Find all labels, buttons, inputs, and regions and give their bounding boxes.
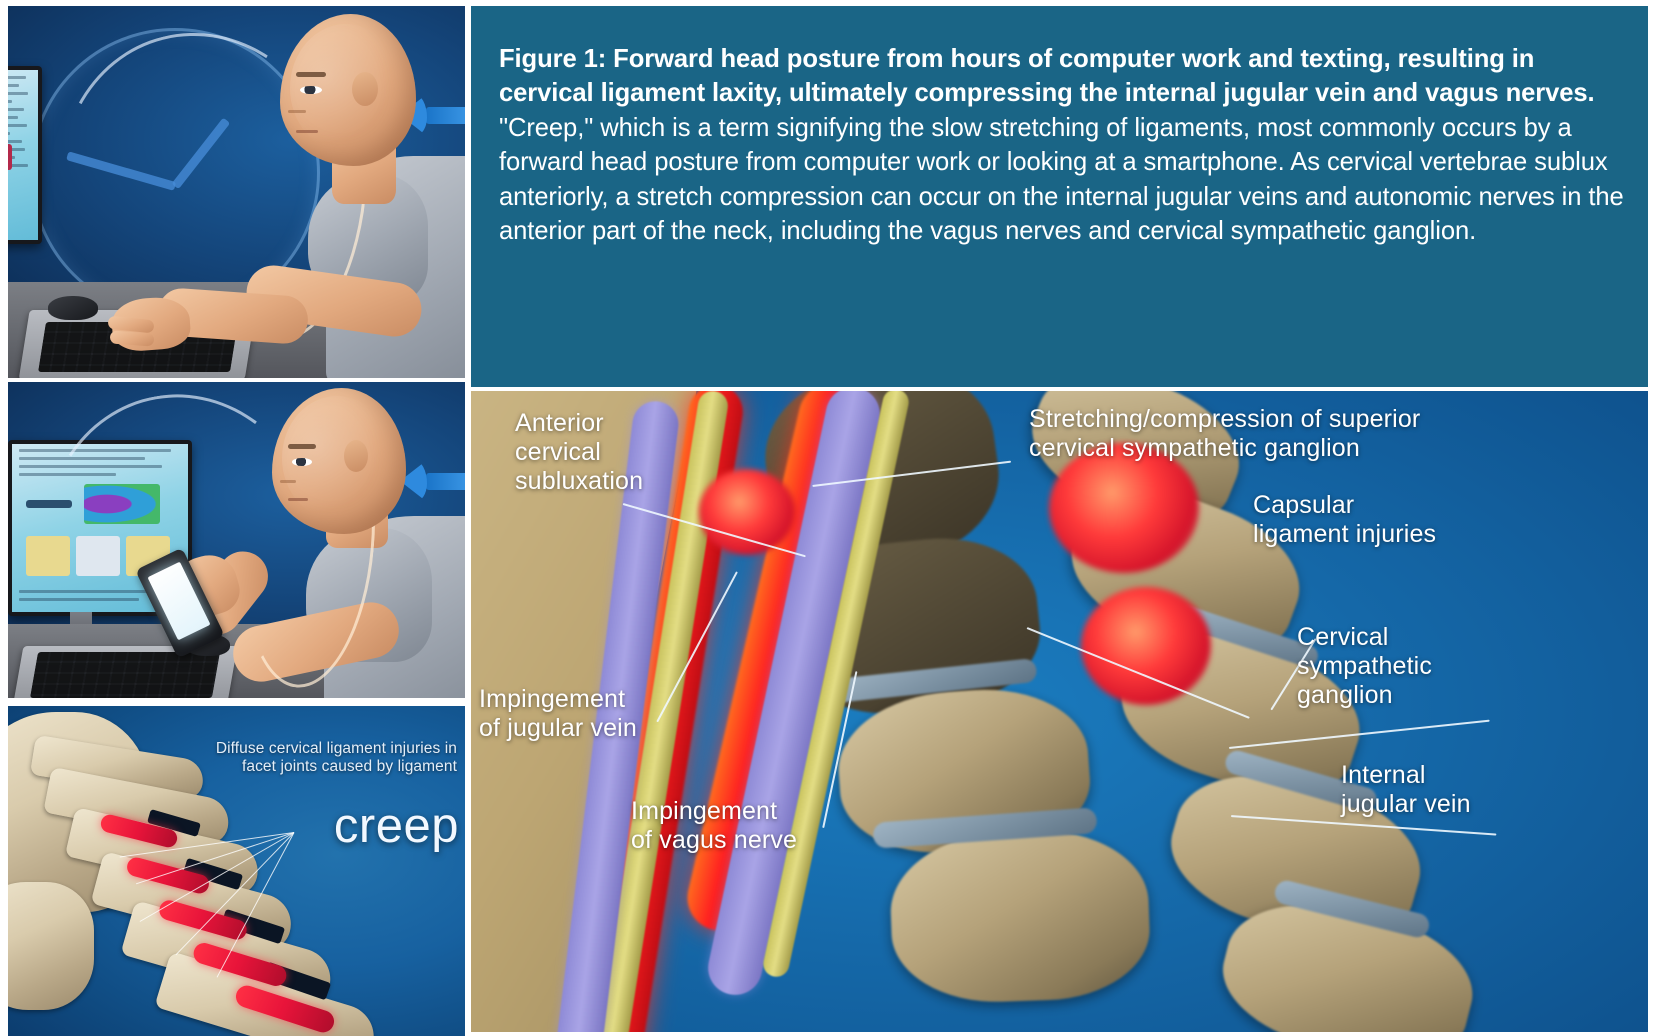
left-photo-column: Diffuse cervical ligament injuries in fa… <box>8 6 465 1032</box>
figure-caption-panel: Figure 1: Forward head posture from hour… <box>471 6 1648 387</box>
mandible <box>8 882 94 1010</box>
panel-smartphone-posture <box>8 382 465 698</box>
capsular-ligament-inflammation <box>1081 587 1211 705</box>
panel-computer-posture <box>8 6 465 378</box>
label-impingement-of-vagus-nerve: Impingement of vagus nerve <box>631 797 797 855</box>
panel-cervical-spine-creep: Diffuse cervical ligament injuries in fa… <box>8 706 465 1036</box>
jugular-impingement-point <box>699 469 795 555</box>
figure-caption-body: "Creep," which is a term signifying the … <box>499 114 1624 245</box>
label-superior-cervical-sympathetic-ganglion: Stretching/compression of superior cervi… <box>1029 405 1420 463</box>
motion-arrow-icon <box>400 460 465 502</box>
creep-caption-text: Diffuse cervical ligament injuries in fa… <box>207 740 457 776</box>
cervical-anatomy-illustration: Anterior cervical subluxation Impingemen… <box>471 391 1648 1032</box>
label-anterior-cervical-subluxation: Anterior cervical subluxation <box>515 409 643 496</box>
laptop-keyboard <box>30 652 220 698</box>
figure-caption-text: Figure 1: Forward head posture from hour… <box>499 42 1632 249</box>
figure-caption-lead: Figure 1: Forward head posture from hour… <box>499 45 1595 107</box>
figure-root: Diffuse cervical ligament injuries in fa… <box>0 0 1654 1036</box>
label-capsular-ligament-injuries: Capsular ligament injuries <box>1253 491 1436 549</box>
creep-keyword: creep <box>334 798 459 854</box>
label-internal-jugular-vein: Internal jugular vein <box>1341 761 1471 819</box>
label-impingement-of-jugular-vein: Impingement of jugular vein <box>479 685 637 743</box>
label-cervical-sympathetic-ganglion: Cervical sympathetic ganglion <box>1297 623 1432 710</box>
computer-mouse <box>48 296 98 320</box>
